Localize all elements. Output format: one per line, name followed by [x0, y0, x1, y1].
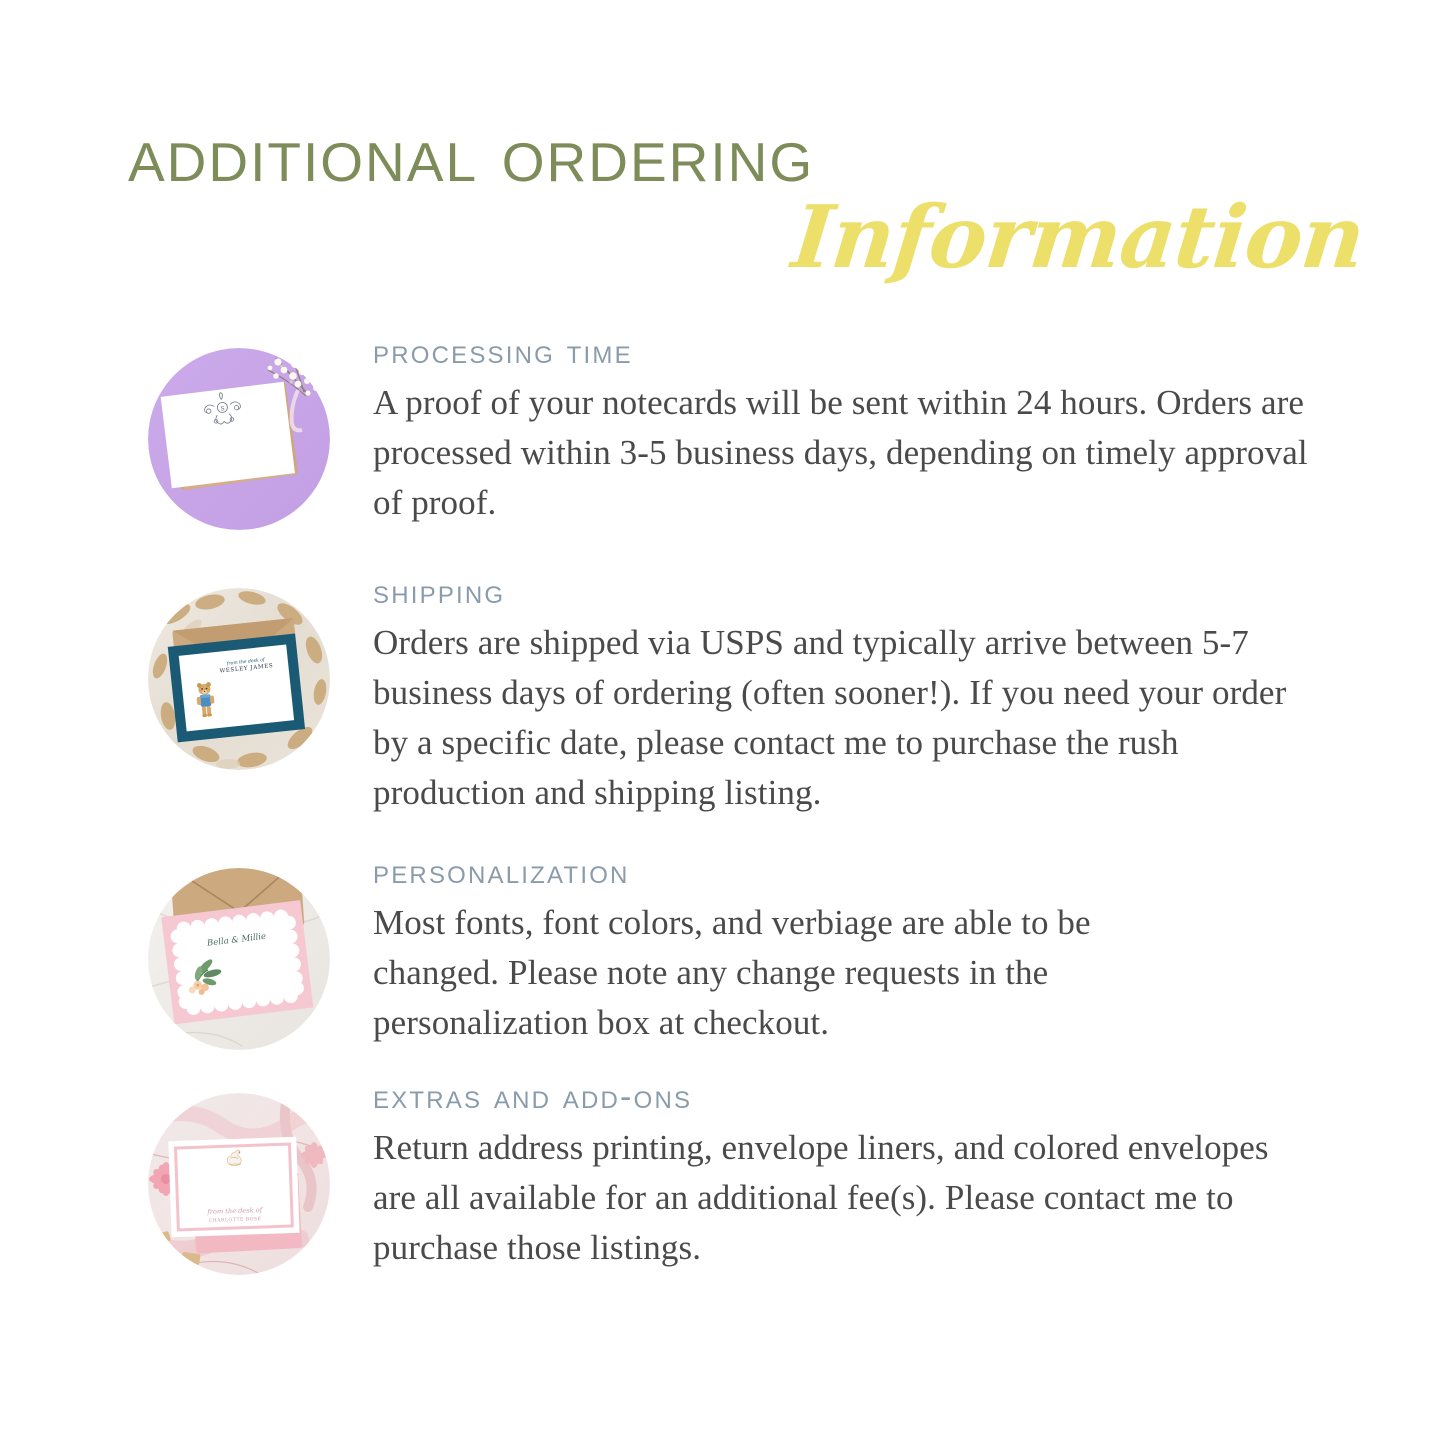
ordering-information-page: Additional Ordering Information	[0, 0, 1445, 1445]
section-text: Return address printing, envelope liners…	[373, 1123, 1273, 1273]
notecard-teddy-bear-teal-photo-icon: from the desk of WESLEY JAMES	[148, 588, 330, 770]
page-title-script: Information	[788, 190, 1369, 286]
notecard-pink-swan-envelope-photo-icon: from the desk of CHARLOTTE ROSE	[148, 1093, 330, 1275]
section-text: A proof of your notecards will be sent w…	[373, 378, 1308, 528]
section-body: Processing Time A proof of your notecard…	[373, 332, 1308, 528]
section-body: Extras and Add-Ons Return address printi…	[373, 1077, 1273, 1273]
page-title-block: Additional Ordering Information	[0, 112, 1445, 297]
section-text: Most fonts, font colors, and verbiage ar…	[373, 898, 1203, 1048]
section-body: Shipping Orders are shipped via USPS and…	[373, 572, 1298, 818]
section-heading: Processing Time	[373, 332, 1308, 372]
page-title: Additional Ordering	[128, 112, 1318, 196]
section-text: Orders are shipped via USPS and typicall…	[373, 618, 1298, 818]
notecard-monogram-lavender-photo-icon: S	[148, 348, 330, 530]
section-heading: Extras and Add-Ons	[373, 1077, 1273, 1117]
svg-text:S: S	[220, 405, 225, 412]
notecard-pink-scallop-floral-photo-icon: Bella & Millie	[148, 868, 330, 1050]
section-heading: Shipping	[373, 572, 1298, 612]
section-heading: Personalization	[373, 852, 1203, 892]
section-body: Personalization Most fonts, font colors,…	[373, 852, 1203, 1048]
